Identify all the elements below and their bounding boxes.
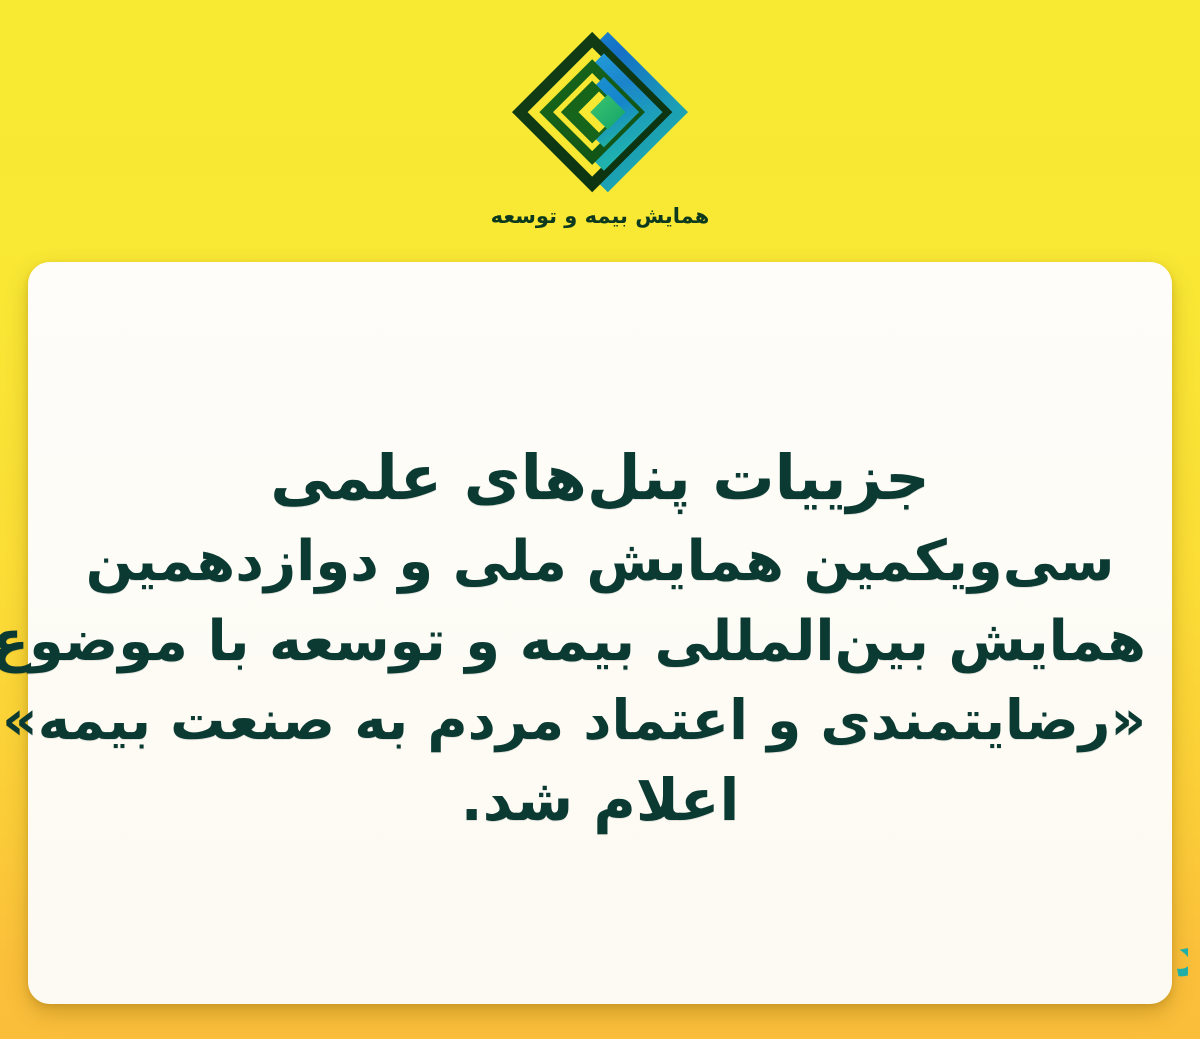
announcement-card: جزییات پنل‌های علمی سی‌ویکمین همایش ملی … xyxy=(28,262,1172,1004)
headline-line-4: «رضایتمندی و اعتماد مردم به صنعت بیمه» xyxy=(54,681,1146,759)
headline-line-5: اعلام شد. xyxy=(54,759,1146,841)
headline-line-2: سی‌ویکمین همایش ملی و دوازدهمین xyxy=(54,522,1146,602)
headline-block: جزییات پنل‌های علمی سی‌ویکمین همایش ملی … xyxy=(54,434,1146,842)
headline-line-3: همایش بین‌المللی بیمه و توسعه با موضوع xyxy=(54,602,1146,682)
conference-logo-icon xyxy=(502,26,698,204)
logo-caption: همایش بیمه و توسعه xyxy=(491,206,710,227)
headline-line-1: جزییات پنل‌های علمی xyxy=(54,434,1146,522)
logo-area: همایش بیمه و توسعه xyxy=(0,26,1200,246)
poster-root: همایش بیمه و توسعه جزییات پنل‌های علمی س… xyxy=(0,0,1200,1039)
